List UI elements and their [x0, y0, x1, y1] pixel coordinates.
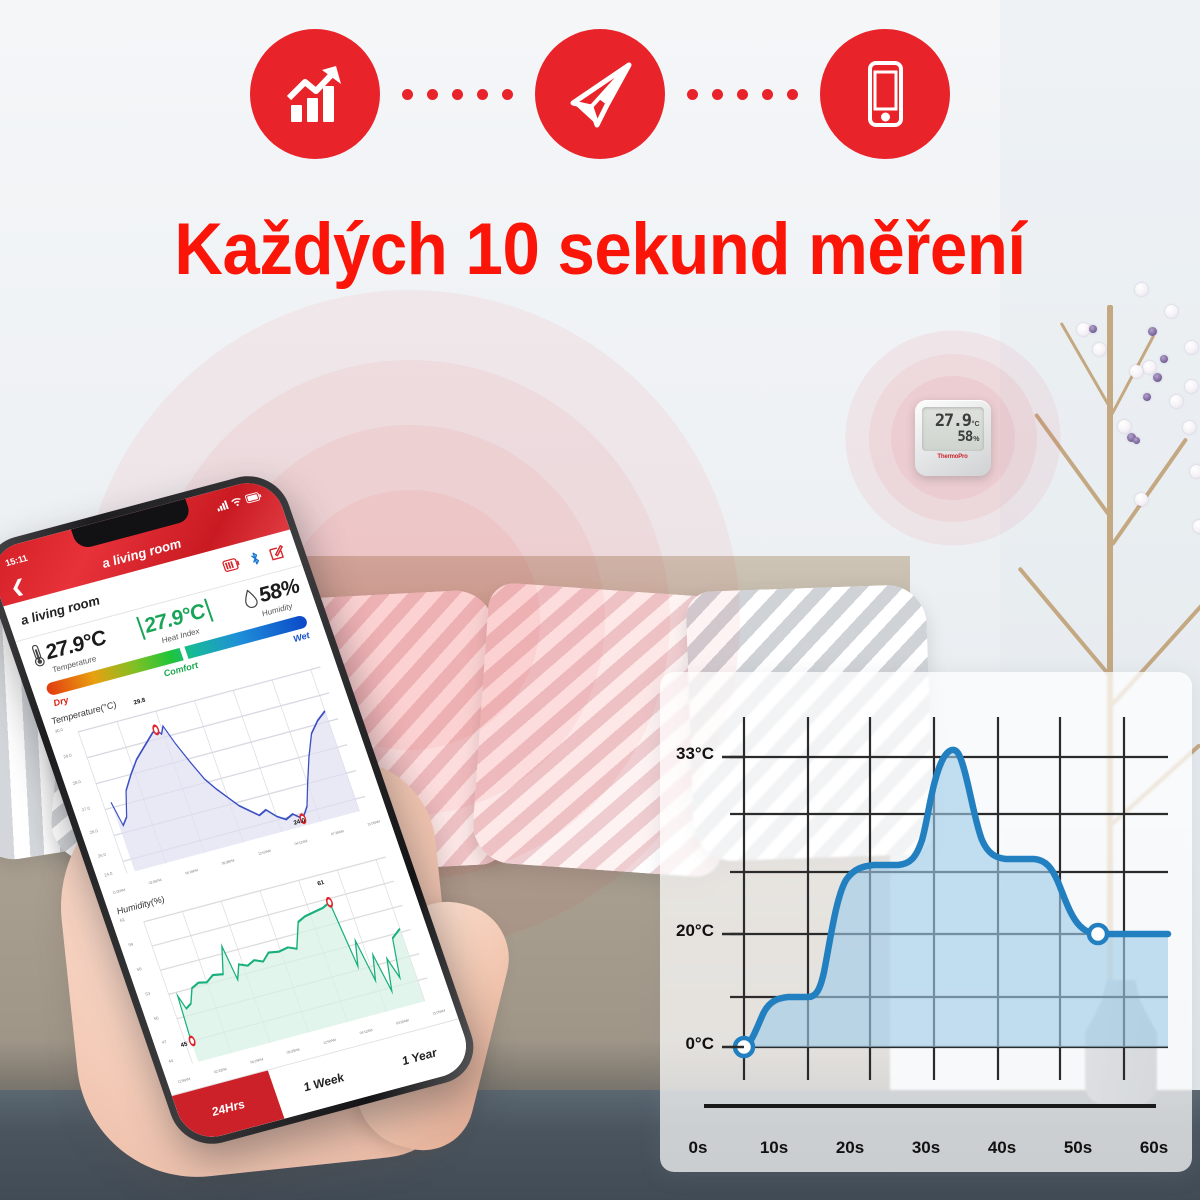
- sensor-temperature-row: 27.9 °C: [926, 413, 980, 430]
- sensor-signal-rings: 27.9 °C 58 % ThermoPro: [845, 330, 1060, 545]
- connector-dot: [737, 89, 748, 100]
- wifi-icon: [230, 496, 244, 507]
- chart-x-axis-labels: 0s 10s 20s 30s 40s 50s 60s: [660, 1138, 1192, 1158]
- chart-x-label: 40s: [964, 1138, 1040, 1158]
- smartphone-icon: [820, 29, 950, 159]
- sensor-humidity-value: 58: [957, 430, 972, 444]
- signal-bars-icon: [215, 500, 229, 511]
- connector-dots-1: [402, 89, 513, 100]
- connector-dot: [427, 89, 438, 100]
- connector-dots-2: [687, 89, 798, 100]
- feature-icon-row: [0, 24, 1200, 164]
- chart-x-label: 30s: [888, 1138, 964, 1158]
- bluetooth-icon[interactable]: [248, 550, 261, 566]
- comfort-label-wet: Wet: [292, 630, 311, 644]
- battery-icon: [244, 491, 262, 504]
- connector-dot: [402, 89, 413, 100]
- sensor-lcd-display: 27.9 °C 58 %: [922, 407, 984, 451]
- comfort-label-dry: Dry: [52, 695, 70, 708]
- connector-dot: [502, 89, 513, 100]
- reading-humidity: 58% Humidity: [240, 575, 306, 622]
- connector-dot: [452, 89, 463, 100]
- chart-y-label-33: 33°C: [652, 744, 714, 764]
- humidity-value: 58%: [256, 575, 303, 608]
- chart-x-label: 50s: [1040, 1138, 1116, 1158]
- chart-svg: [660, 672, 1192, 1172]
- connector-dot: [687, 89, 698, 100]
- comfort-marker: [179, 645, 189, 662]
- sensor-brand-label: ThermoPro: [922, 454, 984, 460]
- connector-dot: [712, 89, 723, 100]
- page-headline: Každých 10 sekund měření: [48, 208, 1152, 291]
- thermopro-sensor-device: 27.9 °C 58 % ThermoPro: [915, 400, 991, 476]
- sensor-humidity-unit: %: [973, 436, 979, 443]
- connector-dot: [762, 89, 773, 100]
- sensor-temperature-value: 27.9: [935, 413, 971, 430]
- chart-marker-end: [1089, 925, 1107, 943]
- chart-x-label: 20s: [812, 1138, 888, 1158]
- battery-level-icon[interactable]: [221, 556, 241, 572]
- bar-chart-growth-icon: [250, 29, 380, 159]
- room-action-icons: [221, 543, 287, 574]
- status-time: 15:11: [4, 553, 29, 568]
- hand-holding-phone: 15:11: [20, 470, 660, 1200]
- back-chevron-icon[interactable]: ❮: [7, 576, 26, 598]
- chart-y-label-0: 0°C: [652, 1034, 714, 1054]
- chart-x-label: 10s: [736, 1138, 812, 1158]
- chart-y-label-20: 20°C: [652, 921, 714, 941]
- temperature-response-chart-panel: 33°C 20°C 0°C 0s 10s 20s 30s 40s 50s 60s: [660, 672, 1192, 1172]
- paper-plane-icon: [535, 29, 665, 159]
- chart-x-label: 60s: [1116, 1138, 1192, 1158]
- connector-dot: [477, 89, 488, 100]
- sensor-temperature-unit: °C: [972, 421, 980, 428]
- sensor-humidity-row: 58 %: [926, 430, 980, 444]
- edit-pencil-icon[interactable]: [267, 543, 286, 561]
- connector-dot: [787, 89, 798, 100]
- chart-x-label: 0s: [660, 1138, 736, 1158]
